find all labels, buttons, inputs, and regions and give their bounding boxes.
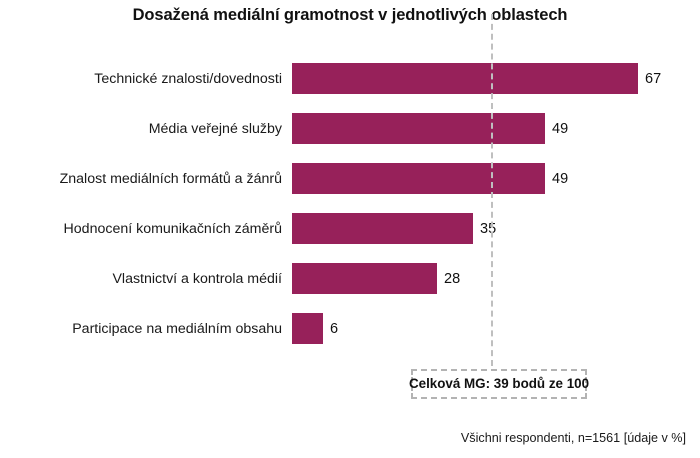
bar-vlastnictvi-kontrola xyxy=(292,263,437,294)
overall-score-callout-label: Celková MG: 39 bodů ze 100 xyxy=(409,377,589,390)
chart-footnote: Všichni respondenti, n=1561 [údaje v %] xyxy=(461,432,686,445)
reference-line-overall-score xyxy=(491,14,493,366)
bar-znalost-formatu xyxy=(292,163,545,194)
category-label-hodnoceni-zameru: Hodnocení komunikačních záměrů xyxy=(0,222,282,236)
bar-media-verejne-sluzby xyxy=(292,113,545,144)
media-literacy-bar-chart: Dosažená mediální gramotnost v jednotliv… xyxy=(0,0,700,458)
bar-value-technicke-znalosti: 67 xyxy=(645,71,661,86)
bar-participace xyxy=(292,313,323,344)
category-axis-labels: Technické znalosti/dovednosti Média veře… xyxy=(0,52,282,352)
category-label-media-verejne-sluzby: Média veřejné služby xyxy=(0,122,282,136)
chart-title: Dosažená mediální gramotnost v jednotliv… xyxy=(0,6,700,25)
category-label-vlastnictvi-kontrola: Vlastnictví a kontrola médií xyxy=(0,272,282,286)
bar-value-media-verejne-sluzby: 49 xyxy=(552,121,568,136)
category-label-znalost-formatu: Znalost mediálních formátů a žánrů xyxy=(0,172,282,186)
bar-technicke-znalosti xyxy=(292,63,638,94)
category-label-participace: Participace na mediálním obsahu xyxy=(0,322,282,336)
category-label-technicke-znalosti: Technické znalosti/dovednosti xyxy=(0,72,282,86)
bar-value-hodnoceni-zameru: 35 xyxy=(480,221,496,236)
plot-area: 67 49 49 35 28 6 xyxy=(292,52,662,352)
bar-value-participace: 6 xyxy=(330,321,338,336)
bar-value-znalost-formatu: 49 xyxy=(552,171,568,186)
bar-value-vlastnictvi-kontrola: 28 xyxy=(444,271,460,286)
bar-hodnoceni-zameru xyxy=(292,213,473,244)
overall-score-callout: Celková MG: 39 bodů ze 100 xyxy=(411,369,587,399)
